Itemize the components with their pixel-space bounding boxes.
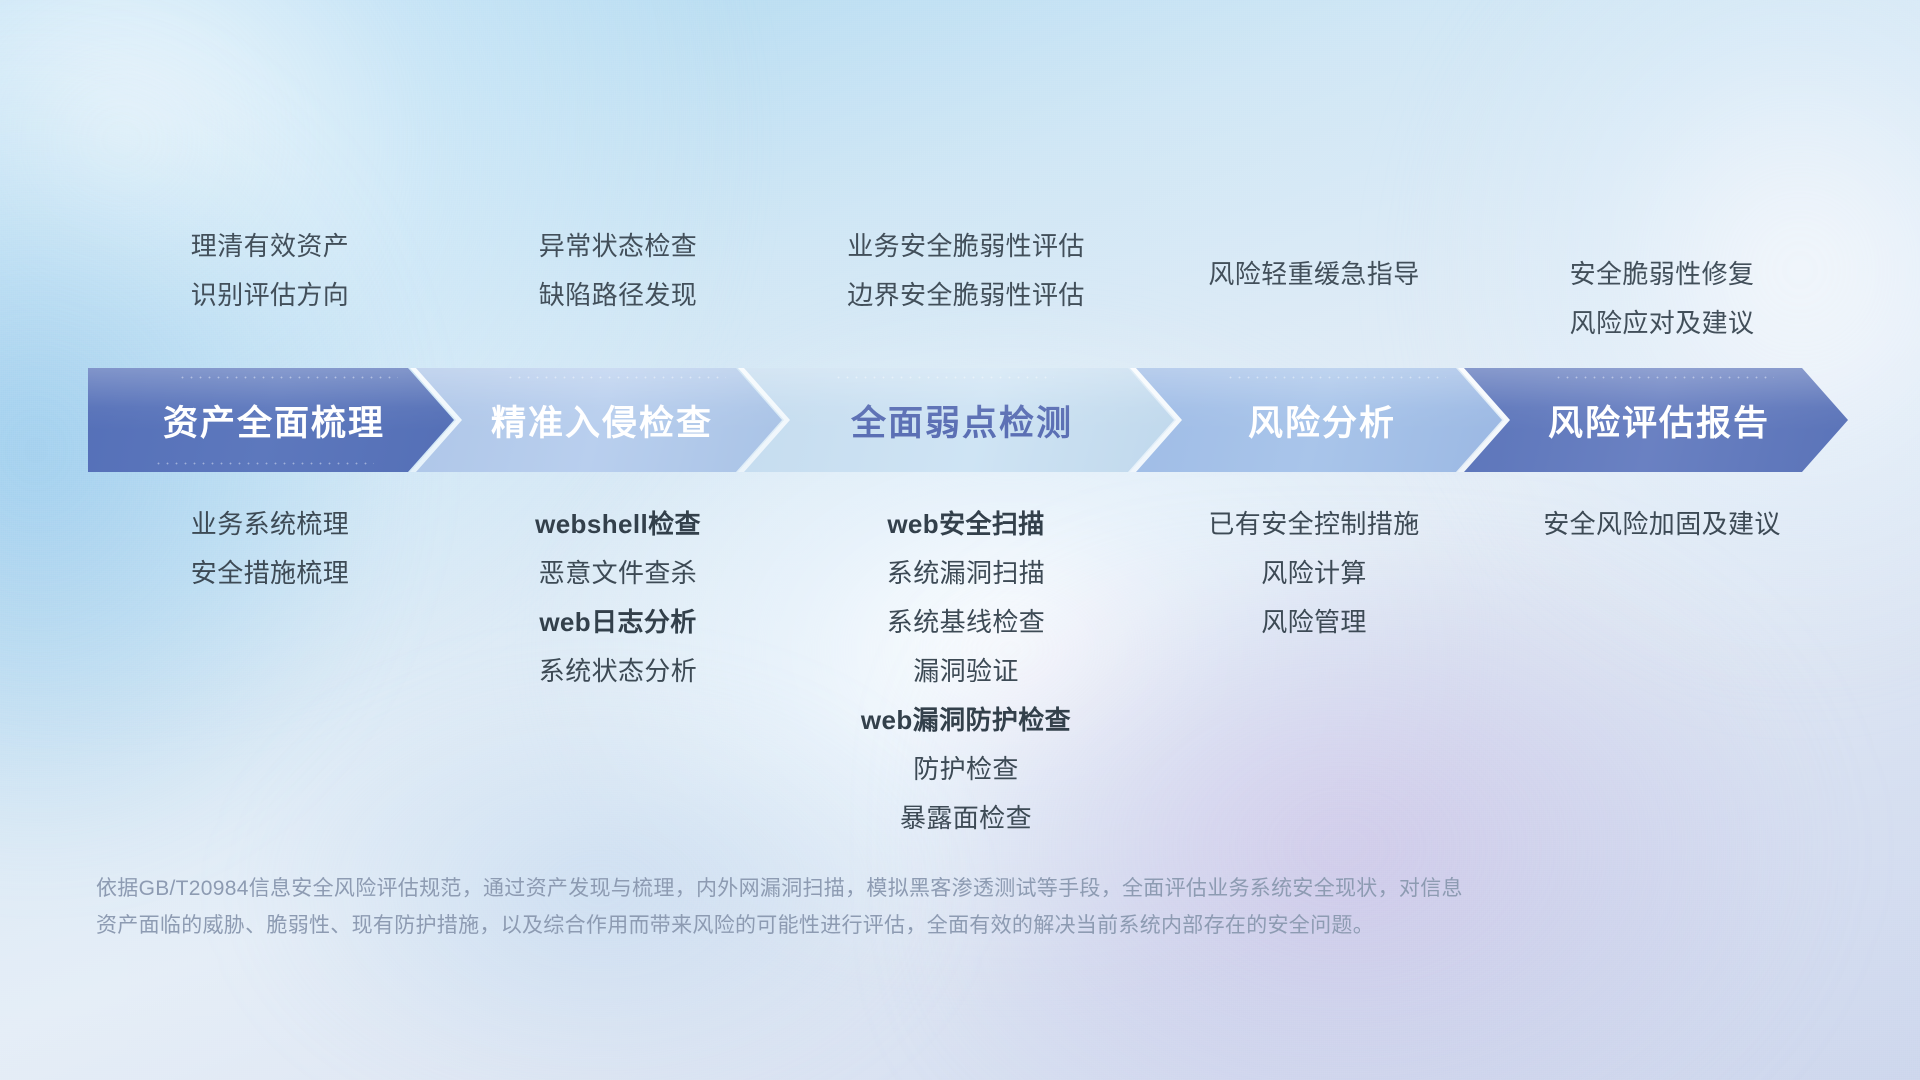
- bottom-details-risk-report: 安全风险加固及建议: [1488, 500, 1836, 843]
- top-annotations-risk-analysis: 风险轻重缓急指导: [1140, 222, 1488, 348]
- detail-item: webshell检查: [450, 500, 786, 549]
- detail-item: 风险管理: [1146, 598, 1482, 647]
- detail-item: web日志分析: [450, 598, 786, 647]
- process-diagram: 理清有效资产 识别评估方向 异常状态检查 缺陷路径发现 业务安全脆弱性评估 边界…: [0, 0, 1920, 1080]
- process-chevron-bar: 资产全面梳理 精准入侵检查 全面弱点检测 风险分析 风险评估报告: [88, 368, 1848, 472]
- detail-item: 系统状态分析: [450, 647, 786, 696]
- detail-item: 系统基线检查: [798, 598, 1134, 647]
- detail-item: web漏洞防护检查: [798, 696, 1134, 745]
- annotation-item: 安全脆弱性修复: [1494, 250, 1830, 299]
- detail-item: 系统漏洞扫描: [798, 549, 1134, 598]
- process-step-risk-report[interactable]: 风险评估报告: [1464, 368, 1848, 472]
- process-step-label: 风险评估报告: [1542, 395, 1770, 446]
- process-step-intrusion-check[interactable]: 精准入侵检查: [416, 368, 782, 472]
- detail-item: 防护检查: [798, 745, 1134, 794]
- detail-item: 风险计算: [1146, 549, 1482, 598]
- bottom-details-risk-analysis: 已有安全控制措施 风险计算 风险管理: [1140, 500, 1488, 843]
- annotation-item: 识别评估方向: [102, 271, 438, 320]
- detail-item: 暴露面检查: [798, 794, 1134, 843]
- footer-line-1: 依据GB/T20984信息安全风险评估规范，通过资产发现与梳理，内外网漏洞扫描，…: [96, 870, 1656, 907]
- top-annotations-weakness-detection: 业务安全脆弱性评估 边界安全脆弱性评估: [792, 222, 1140, 348]
- bottom-details-row: 业务系统梳理 安全措施梳理 webshell检查 恶意文件查杀 web日志分析 …: [96, 500, 1836, 843]
- detail-item: 恶意文件查杀: [450, 549, 786, 598]
- annotation-item: 异常状态检查: [450, 222, 786, 271]
- detail-item: 安全措施梳理: [102, 549, 438, 598]
- annotation-item: 边界安全脆弱性评估: [798, 271, 1134, 320]
- bottom-details-weakness-detection: web安全扫描 系统漏洞扫描 系统基线检查 漏洞验证 web漏洞防护检查 防护检…: [792, 500, 1140, 843]
- detail-item: 已有安全控制措施: [1146, 500, 1482, 549]
- top-annotations-row: 理清有效资产 识别评估方向 异常状态检查 缺陷路径发现 业务安全脆弱性评估 边界…: [96, 222, 1836, 348]
- top-annotations-intrusion-check: 异常状态检查 缺陷路径发现: [444, 222, 792, 348]
- detail-item: 业务系统梳理: [102, 500, 438, 549]
- annotation-item: 缺陷路径发现: [450, 271, 786, 320]
- top-annotations-risk-report: 安全脆弱性修复 风险应对及建议: [1488, 222, 1836, 348]
- annotation-item: 理清有效资产: [102, 222, 438, 271]
- bottom-details-intrusion-check: webshell检查 恶意文件查杀 web日志分析 系统状态分析: [444, 500, 792, 843]
- sparkle-decoration-icon: [1554, 373, 1774, 381]
- sparkle-decoration-icon: [834, 373, 1054, 381]
- annotation-item: 风险应对及建议: [1494, 299, 1830, 348]
- top-annotations-asset-inventory: 理清有效资产 识别评估方向: [96, 222, 444, 348]
- sparkle-decoration-icon: [154, 459, 374, 467]
- bottom-details-asset-inventory: 业务系统梳理 安全措施梳理: [96, 500, 444, 843]
- detail-item: 安全风险加固及建议: [1494, 500, 1830, 549]
- sparkle-decoration-icon: [178, 373, 398, 381]
- process-step-weakness-detection[interactable]: 全面弱点检测: [744, 368, 1174, 472]
- process-step-risk-analysis[interactable]: 风险分析: [1136, 368, 1502, 472]
- annotation-item: 风险轻重缓急指导: [1146, 250, 1482, 299]
- detail-item: 漏洞验证: [798, 647, 1134, 696]
- process-step-label: 精准入侵检查: [485, 395, 713, 446]
- detail-item: web安全扫描: [798, 500, 1134, 549]
- sparkle-decoration-icon: [1226, 373, 1446, 381]
- annotation-item: 业务安全脆弱性评估: [798, 222, 1134, 271]
- process-step-asset-inventory[interactable]: 资产全面梳理: [88, 368, 454, 472]
- process-step-label: 资产全面梳理: [157, 395, 385, 446]
- process-step-label: 风险分析: [1242, 395, 1396, 446]
- sparkle-decoration-icon: [506, 373, 726, 381]
- footer-description: 依据GB/T20984信息安全风险评估规范，通过资产发现与梳理，内外网漏洞扫描，…: [96, 870, 1656, 944]
- process-step-label: 全面弱点检测: [845, 395, 1073, 446]
- footer-line-2: 资产面临的威胁、脆弱性、现有防护措施，以及综合作用而带来风险的可能性进行评估，全…: [96, 907, 1656, 944]
